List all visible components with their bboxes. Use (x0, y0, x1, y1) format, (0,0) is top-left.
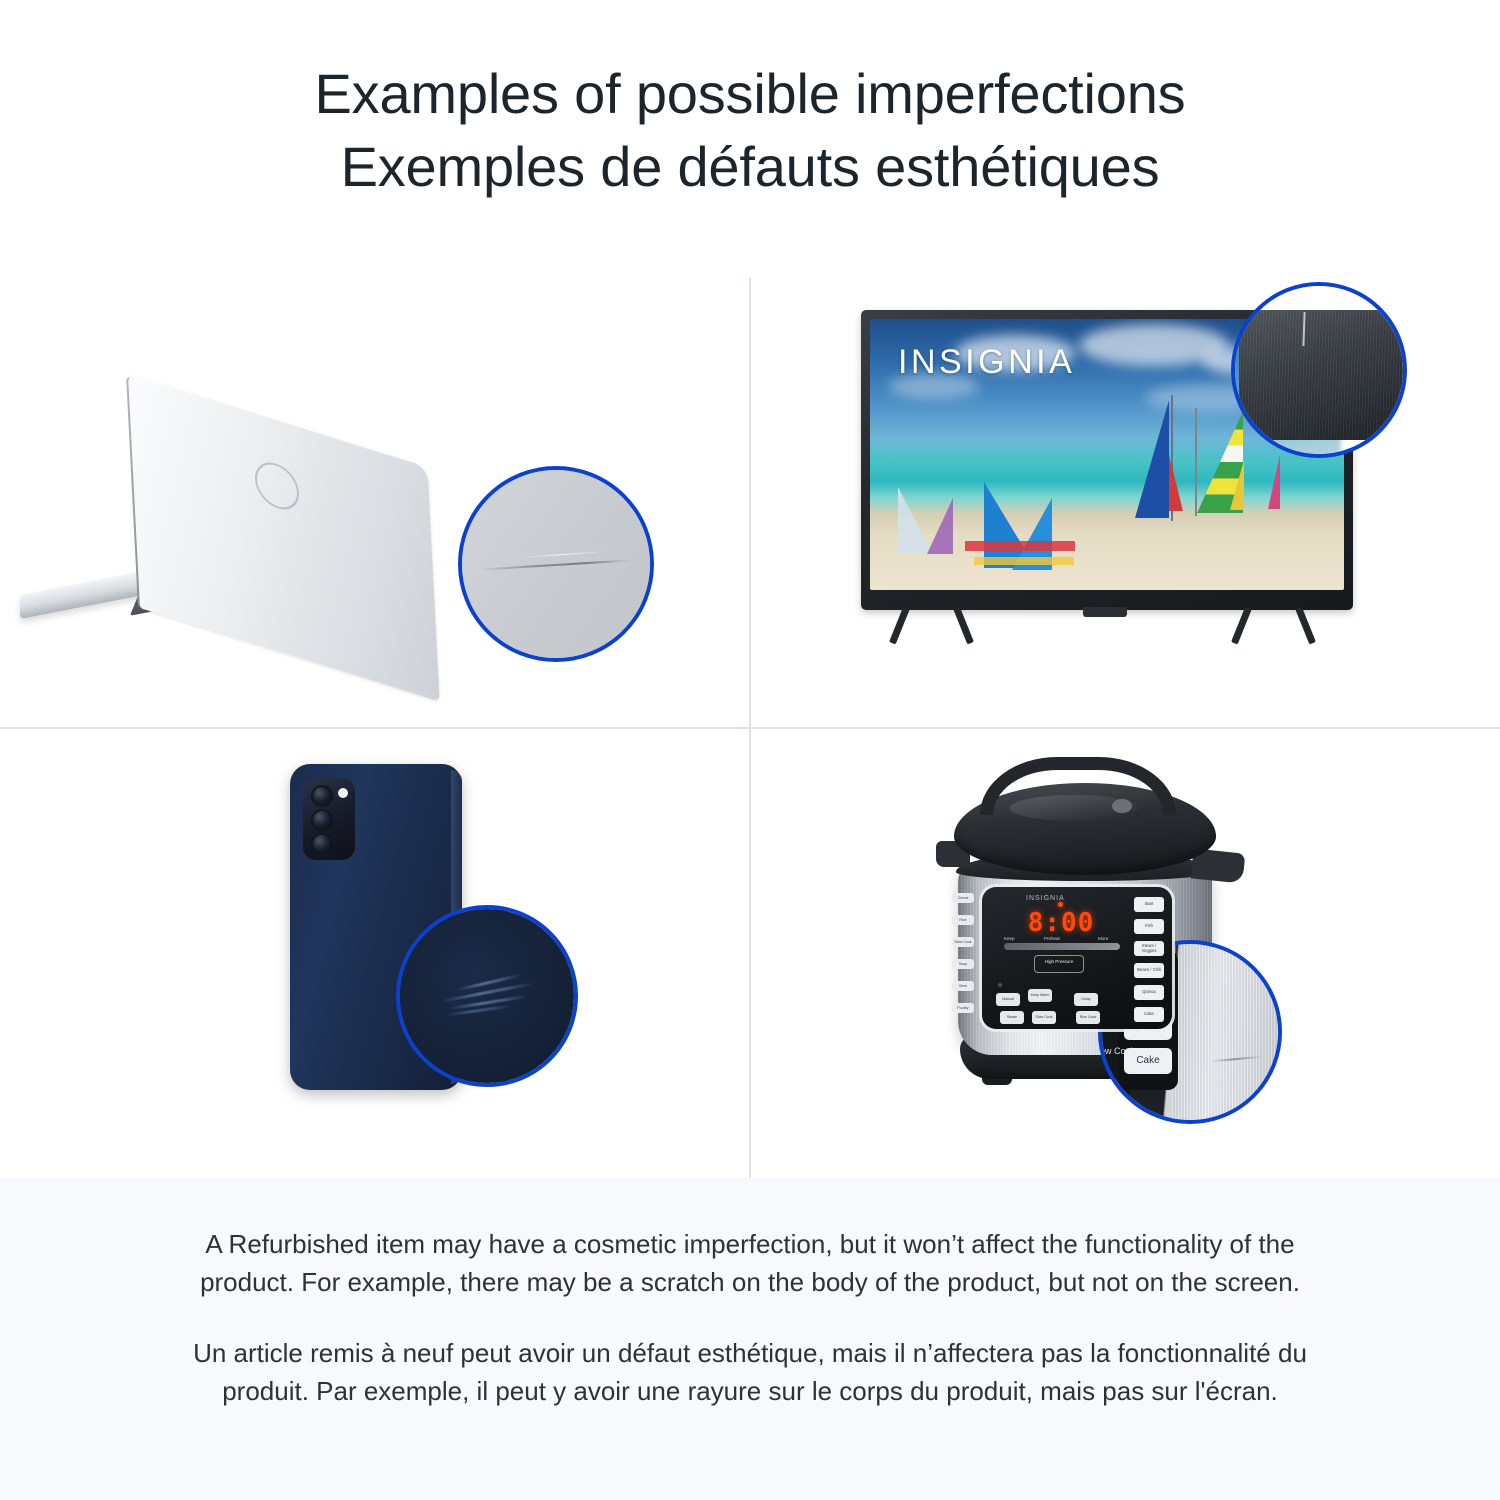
cooker-lid-handle (980, 757, 1176, 815)
description-en: A Refurbished item may have a cosmetic i… (170, 1226, 1330, 1301)
cooker-side-button[interactable]: Slow Cook (952, 937, 974, 947)
laptop-lid (128, 374, 440, 701)
cooker-brand-label: INSIGNIA (1026, 895, 1065, 902)
cooker-button-quinoa[interactable]: Quinoa (1134, 985, 1164, 1000)
example-cell-phone (0, 729, 749, 1178)
cooker-status-led-icon (1058, 902, 1063, 907)
magnifier-content-laptop (458, 466, 654, 662)
cooker-bar-label: Preheat (1044, 936, 1060, 941)
magnifier-circle-phone (396, 905, 578, 1087)
tv-leg-left (901, 608, 971, 644)
cooker-keypad[interactable]: Manual Keep Warm Delay Steam Slow Cook R… (996, 979, 1116, 1023)
cooker-side-button[interactable]: Stew (952, 981, 974, 991)
cooker-button-cake[interactable]: Cake (1134, 1007, 1164, 1022)
description-fr: Un article remis à neuf peut avoir un dé… (170, 1335, 1330, 1410)
magnifier-circle-laptop (458, 466, 654, 662)
magnifier-content-tv (1231, 282, 1407, 458)
cooker-progress-bar (1004, 943, 1120, 950)
cooker-control-panel[interactable]: INSIGNIA 8:00 Keep Preheat More High Pre… (982, 887, 1172, 1029)
laptop-image (20, 378, 440, 658)
cooker-button-steam[interactable]: Steam / Veggies (1134, 941, 1164, 956)
phone-stage (0, 729, 749, 1178)
page-title-en: Examples of possible imperfections (0, 58, 1500, 131)
magnifier-circle-tv (1231, 282, 1407, 458)
cooker-side-button[interactable]: Rice (952, 915, 974, 925)
phone-camera-module (303, 778, 355, 860)
page-title-fr: Exemples de défauts esthétiques (0, 131, 1500, 204)
cooker-bar-label: More (1098, 936, 1108, 941)
cooker-key[interactable]: Rice Cook (1076, 1011, 1100, 1024)
cooker-key[interactable]: Keep Warm (1028, 989, 1052, 1002)
scratch-highlight (518, 551, 608, 558)
cooker-button-beans[interactable]: Beans / Chili (1134, 963, 1164, 978)
cooker-key[interactable]: Steam (1000, 1011, 1024, 1024)
cooker-button-cake-closeup[interactable]: Cake (1124, 1048, 1172, 1074)
tv-bezel-closeup (1239, 310, 1407, 440)
cooker-button-fish[interactable]: Fish (1134, 919, 1164, 934)
refurbished-imperfections-infographic: Examples of possible imperfections Exemp… (0, 0, 1500, 1500)
tv-brand-logo: INSIGNIA (898, 343, 1075, 382)
brushed-steel-texture (1172, 940, 1282, 1124)
cooker-button-start[interactable]: Start (1134, 897, 1164, 912)
scratch-mark (441, 982, 534, 1003)
cooker-led-display: 8:00 (1022, 909, 1100, 937)
page-title: Examples of possible imperfections Exemp… (0, 58, 1500, 204)
tv-sail-blue (1135, 400, 1169, 518)
phone-flash-icon (338, 788, 348, 798)
phone-lens-icon (311, 785, 333, 807)
magnifier-content-phone (396, 905, 578, 1087)
cooker-bar-label: Keep (1004, 936, 1015, 941)
cooker-pressure-readout: High Pressure (1034, 955, 1084, 973)
phone-lens-icon (311, 833, 333, 855)
description-panel: A Refurbished item may have a cosmetic i… (0, 1178, 1500, 1500)
cooker-key[interactable]: Slow Cook (1032, 1011, 1056, 1024)
cooker-key[interactable]: Manual (996, 993, 1020, 1006)
tv-stand-center (1083, 607, 1127, 617)
scratch-mark (480, 559, 630, 570)
cooker-side-button[interactable]: Soup (952, 959, 974, 969)
tv-leg-right (1243, 608, 1313, 644)
cooker-side-button[interactable]: Poultry (952, 1003, 974, 1013)
cooker-side-button[interactable]: Cereal (952, 893, 974, 903)
cooker-key[interactable]: Delay (1074, 993, 1098, 1006)
phone-lens-icon (311, 809, 333, 831)
